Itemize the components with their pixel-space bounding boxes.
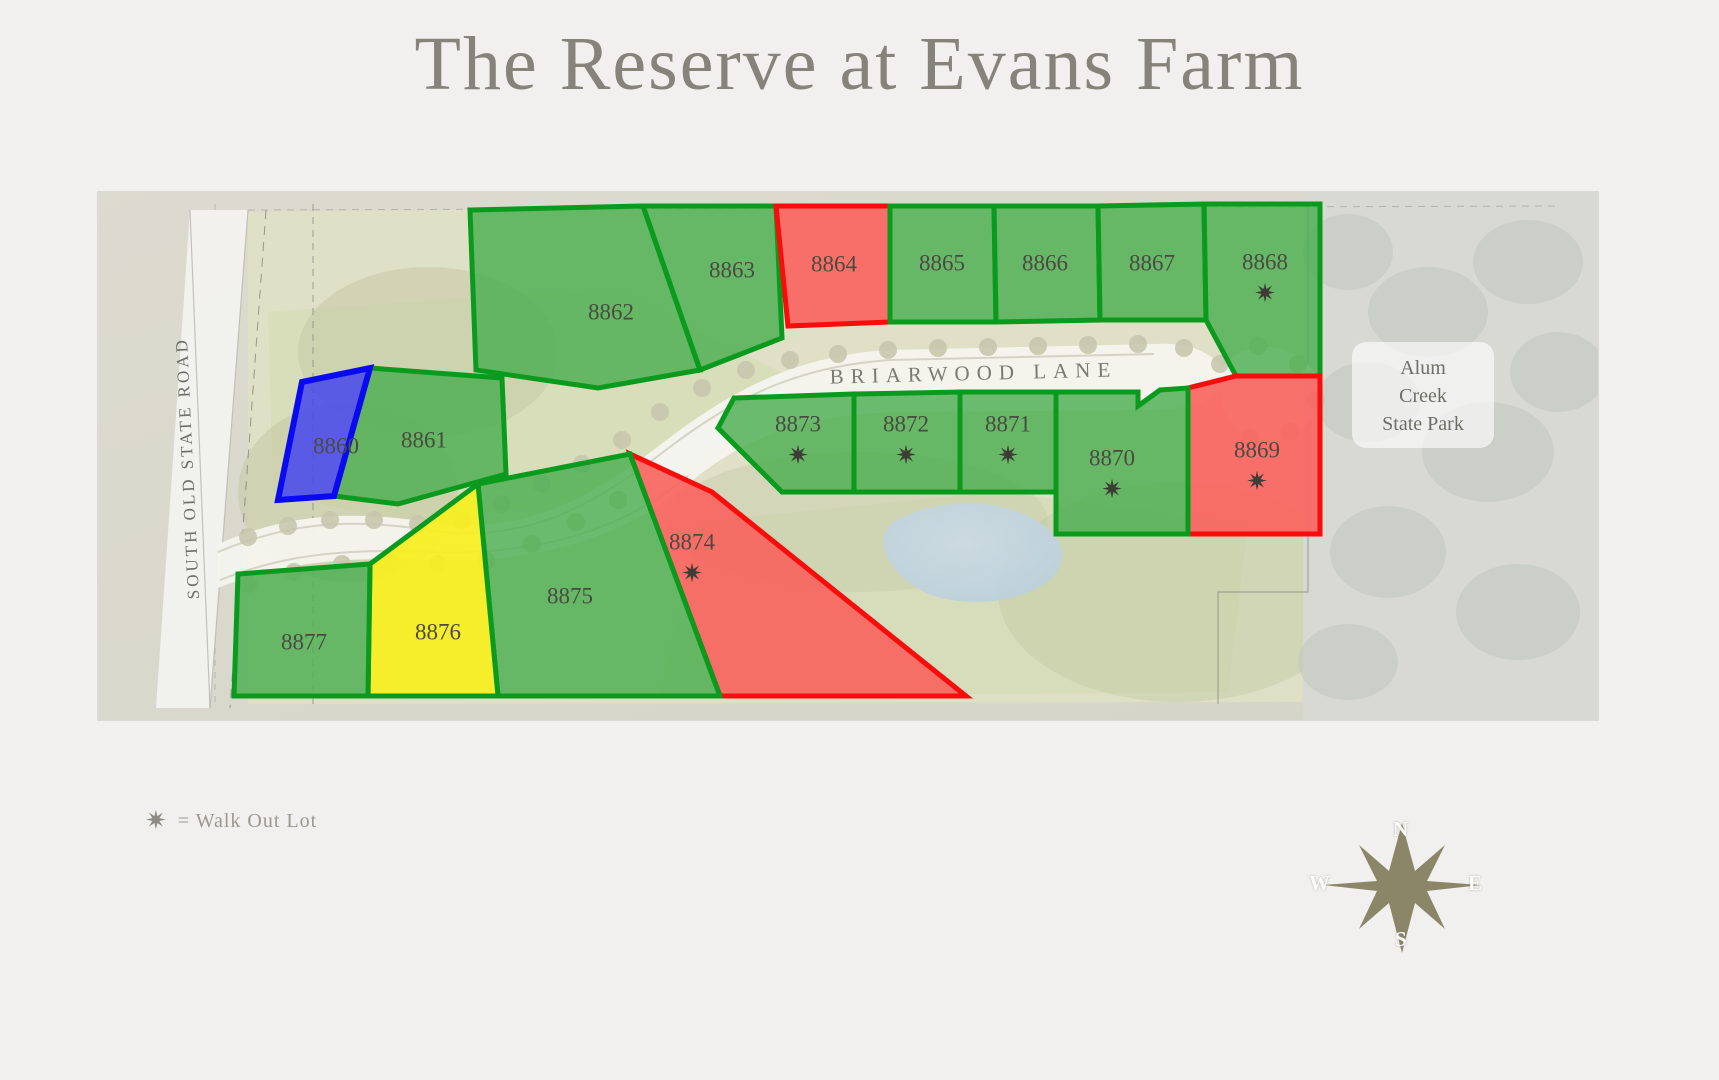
lot-8860-label: 8860	[313, 433, 359, 458]
site-plan-page: The Reserve at Evans Farm	[0, 0, 1719, 1080]
lot-8876-label: 8876	[415, 619, 461, 644]
lot-8867[interactable]: 8867	[1098, 204, 1206, 320]
page-title: The Reserve at Evans Farm	[0, 26, 1719, 102]
lot-8872-label: 8872	[883, 411, 929, 436]
park-label-line1: Alum	[1400, 357, 1446, 379]
compass-rose: N S W E	[1305, 805, 1500, 965]
compass-north-label: N	[1393, 817, 1408, 842]
lot-8871[interactable]: 8871 ✷	[960, 392, 1056, 492]
lot-8873-label: 8873	[775, 411, 821, 436]
lot-8868[interactable]: 8868 ✷	[1204, 204, 1320, 376]
lot-8870[interactable]: 8870 ✷	[1056, 388, 1188, 534]
lot-8866-label: 8866	[1022, 250, 1068, 275]
legend: ✷ = Walk Out Lot	[145, 808, 317, 834]
lot-8865[interactable]: 8865	[890, 206, 996, 322]
lot-8864[interactable]: 8864	[776, 206, 890, 326]
alum-creek-state-park-callout: Alum Creek State Park	[1352, 342, 1494, 448]
lot-8873-walkout-icon: ✷	[787, 441, 809, 470]
compass-west-label: W	[1309, 871, 1330, 896]
lot-8869[interactable]: 8869 ✷	[1188, 376, 1320, 534]
lot-8861-label: 8861	[401, 427, 447, 452]
lot-8877-label: 8877	[281, 629, 327, 654]
walk-out-lot-icon: ✷	[145, 808, 168, 834]
lot-8869-walkout-icon: ✷	[1246, 467, 1268, 496]
lot-8875-label: 8875	[547, 583, 593, 608]
lot-8862-label: 8862	[588, 299, 634, 324]
lot-8868-walkout-icon: ✷	[1254, 279, 1276, 308]
lot-8877[interactable]: 8877	[234, 564, 370, 696]
lot-8869-label: 8869	[1234, 437, 1280, 462]
site-map[interactable]: 8862 8863 8864 8865	[98, 192, 1598, 720]
lot-8874-walkout-icon: ✷	[681, 559, 703, 588]
lot-8870-walkout-icon: ✷	[1101, 475, 1123, 504]
lot-8864-label: 8864	[811, 251, 858, 276]
lot-8872[interactable]: 8872 ✷	[854, 392, 960, 492]
lot-8863-label: 8863	[709, 257, 755, 282]
lot-8868-label: 8868	[1242, 249, 1288, 274]
lot-8870-label: 8870	[1089, 445, 1135, 470]
legend-text: = Walk Out Lot	[178, 810, 317, 833]
lot-8866[interactable]: 8866	[994, 206, 1100, 322]
lot-8871-label: 8871	[985, 411, 1031, 436]
lot-8865-label: 8865	[919, 250, 965, 275]
park-label-line2: Creek	[1399, 385, 1447, 407]
compass-east-label: E	[1468, 871, 1482, 896]
park-label-line3: State Park	[1382, 413, 1464, 435]
lot-8872-walkout-icon: ✷	[895, 441, 917, 470]
lot-8867-label: 8867	[1129, 250, 1175, 275]
lot-8871-walkout-icon: ✷	[997, 441, 1019, 470]
lot-8874-label: 8874	[669, 529, 716, 554]
compass-south-label: S	[1395, 927, 1407, 952]
